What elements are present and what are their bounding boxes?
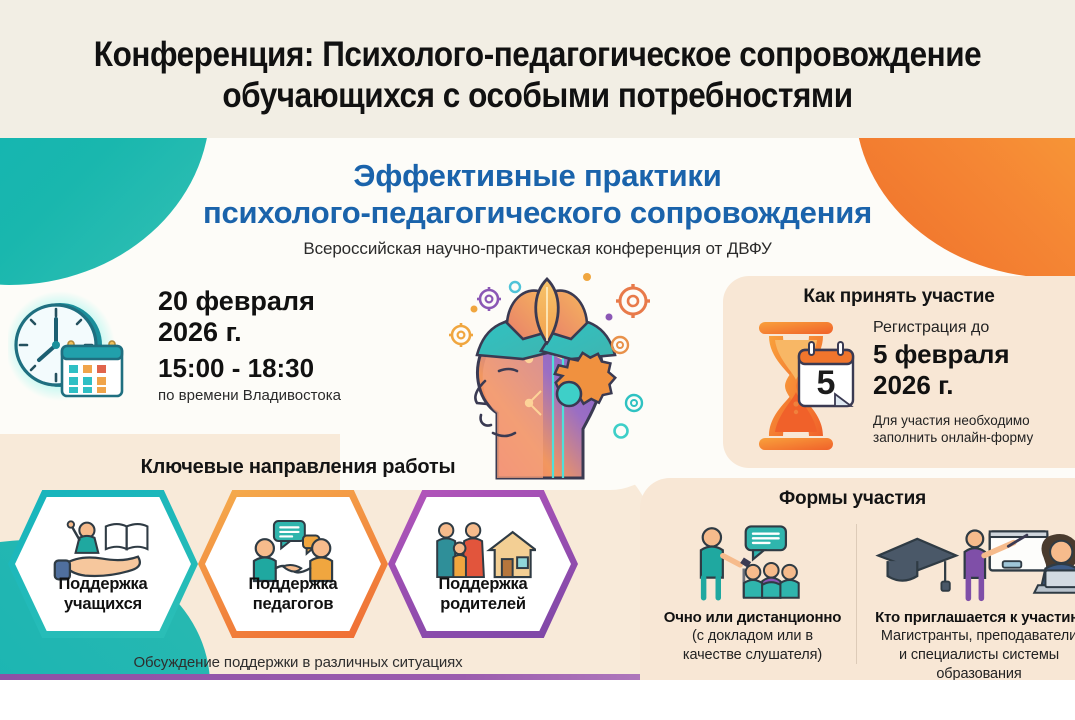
participation-forms-title: Формы участия: [640, 488, 1065, 510]
hourglass-calendar-icon: 5: [745, 318, 861, 454]
direction-card-inner: Поддержка учащихся: [15, 497, 191, 631]
participation-right-sub1: Магистранты, преподаватели: [864, 627, 1075, 646]
participation-option-audience: Кто приглашается к участию Магистранты, …: [864, 518, 1075, 680]
participation-left-sub1: (с докладом или в: [650, 627, 855, 646]
direction-card-inner: Поддержка родителей: [395, 497, 571, 631]
decor-bottom-strip: [0, 674, 660, 680]
direction-label-line1: Поддержка: [15, 574, 191, 594]
registration-note-line2: заполнить онлайн-форму: [873, 429, 1073, 446]
registration-panel: Как принять участие: [723, 276, 1075, 468]
participation-right-sub2: и специалисты системы: [864, 646, 1075, 665]
key-directions-footer: Обсуждение поддержки в различных ситуаци…: [0, 654, 596, 671]
event-date-line1: 20 февраля: [158, 286, 408, 317]
registration-note-line1: Для участия необходимо: [873, 412, 1073, 429]
participation-left-sub2: качестве слушателя): [650, 646, 855, 665]
poster-screenshot: Конференция: Психолого-педагогическое со…: [0, 0, 1075, 720]
participation-right-sub3: образования: [864, 665, 1075, 680]
direction-card-parents[interactable]: Поддержка родителей: [388, 490, 578, 638]
poster-title-line1: Эффективные практики: [0, 158, 1075, 194]
registration-title: Как принять участие: [723, 286, 1075, 308]
speaker-audience-icon: [650, 518, 855, 602]
event-timezone-note: по времени Владивостока: [158, 386, 408, 405]
header-band: Конференция: Психолого-педагогическое со…: [0, 0, 1075, 138]
poster-body: Эффективные практики психолого-педагогич…: [0, 138, 1075, 680]
direction-card-label: Поддержка учащихся: [15, 574, 191, 614]
event-time: 15:00 - 18:30: [158, 351, 408, 385]
participation-option-format: Очно или дистанционно (с докладом или в …: [650, 518, 855, 665]
event-date-line2: 2026 г.: [158, 317, 408, 348]
registration-date-line1: 5 февраля: [873, 339, 1073, 369]
key-directions-cards: Поддержка учащихся: [0, 490, 600, 645]
direction-label-line2: родителей: [395, 594, 571, 614]
direction-card-label: Поддержка родителей: [395, 574, 571, 614]
direction-card-students[interactable]: Поддержка учащихся: [8, 490, 198, 638]
graduation-teacher-laptop-icon: [864, 518, 1075, 602]
head-lotus-gears-icon: [437, 263, 672, 488]
poster-title-line2: психолого-педагогического сопровождения: [0, 194, 1075, 232]
registration-date-line2: 2026 г.: [873, 370, 1073, 400]
calendar-day-number: 5: [817, 364, 836, 402]
poster-subtitle: Всероссийская научно-практическая конфер…: [0, 239, 1075, 259]
direction-label-line1: Поддержка: [395, 574, 571, 594]
direction-label-line2: педагогов: [205, 594, 381, 614]
event-date-block: 20 февраля 2026 г. 15:00 - 18:30 по врем…: [158, 286, 408, 405]
direction-card-label: Поддержка педагогов: [205, 574, 381, 614]
clock-calendar-icon: [8, 288, 140, 408]
direction-card-inner: Поддержка педагогов: [205, 497, 381, 631]
participation-right-strong: Кто приглашается к участию: [864, 608, 1075, 627]
participation-forms-panel: Формы участия: [640, 478, 1075, 680]
direction-card-teachers[interactable]: Поддержка педагогов: [198, 490, 388, 638]
header-title-line2: обучающихся с особыми потребностями: [54, 75, 1022, 116]
participation-divider: [856, 524, 857, 664]
participation-left-strong: Очно или дистанционно: [650, 608, 855, 627]
direction-label-line1: Поддержка: [205, 574, 381, 594]
direction-label-line2: учащихся: [15, 594, 191, 614]
poster-title-block: Эффективные практики психолого-педагогич…: [0, 158, 1075, 259]
header-title-line1: Конференция: Психолого-педагогическое со…: [94, 35, 981, 74]
registration-text-block: Регистрация до 5 февраля 2026 г. Для уча…: [873, 318, 1073, 446]
registration-prefix: Регистрация до: [873, 318, 1073, 338]
page-title: Конференция: Психолого-педагогическое со…: [54, 34, 1022, 116]
key-directions-title: Ключевые направления работы: [0, 456, 596, 479]
